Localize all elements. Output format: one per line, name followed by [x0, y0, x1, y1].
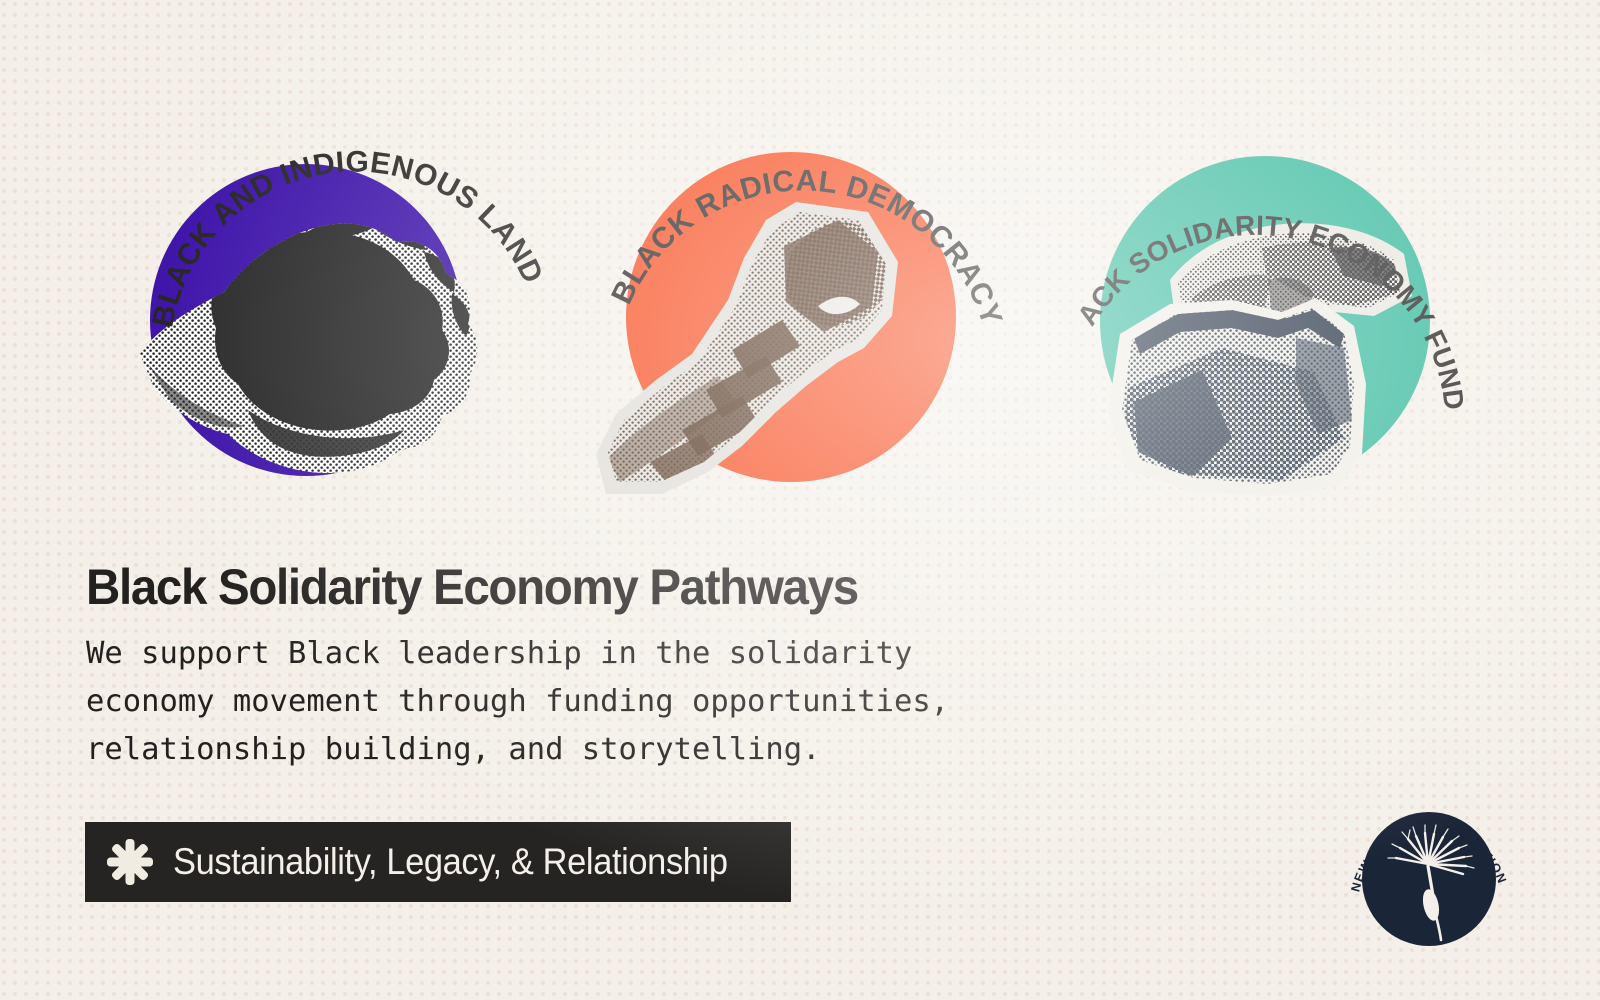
badge-ring-label-democracy: BLACK RADICAL DEMOCRACY	[605, 164, 1008, 329]
badge-ring-text-democracy: BLACK RADICAL DEMOCRACY	[604, 104, 1024, 524]
tag-bar[interactable]: Sustainability, Legacy, & Relationship	[85, 822, 791, 902]
badge-ring-label-land: BLACK AND INDIGENOUS LAND	[146, 146, 549, 330]
badge-ring-label-fund: BLACK SOLIDARITY ECONOMY FUND	[1062, 71, 1470, 412]
badge-ring-text-fund: BLACK SOLIDARITY ECONOMY FUND	[1072, 96, 1492, 516]
new-economy-coalition-logo[interactable]: NEW ECONOMY COALITION	[1336, 782, 1522, 968]
content-block: Black Solidarity Economy Pathways We sup…	[86, 558, 1186, 774]
badge-row: BLACK AND INDIGENOUS LAND	[0, 0, 1600, 545]
badge-black-and-indigenous-land[interactable]: BLACK AND INDIGENOUS LAND	[128, 96, 548, 516]
badge-black-solidarity-economy-fund[interactable]: BLACK SOLIDARITY ECONOMY FUND	[1072, 96, 1492, 516]
badge-ring-text-land: BLACK AND INDIGENOUS LAND	[128, 96, 548, 516]
tag-bar-label: Sustainability, Legacy, & Relationship	[173, 840, 728, 884]
badge-black-radical-democracy[interactable]: BLACK RADICAL DEMOCRACY	[604, 104, 1024, 524]
asterisk-icon	[105, 837, 155, 887]
page-title: Black Solidarity Economy Pathways	[86, 558, 1131, 616]
poster-canvas: BLACK AND INDIGENOUS LAND	[0, 0, 1600, 1000]
body-copy: We support Black leadership in the solid…	[86, 630, 1186, 774]
